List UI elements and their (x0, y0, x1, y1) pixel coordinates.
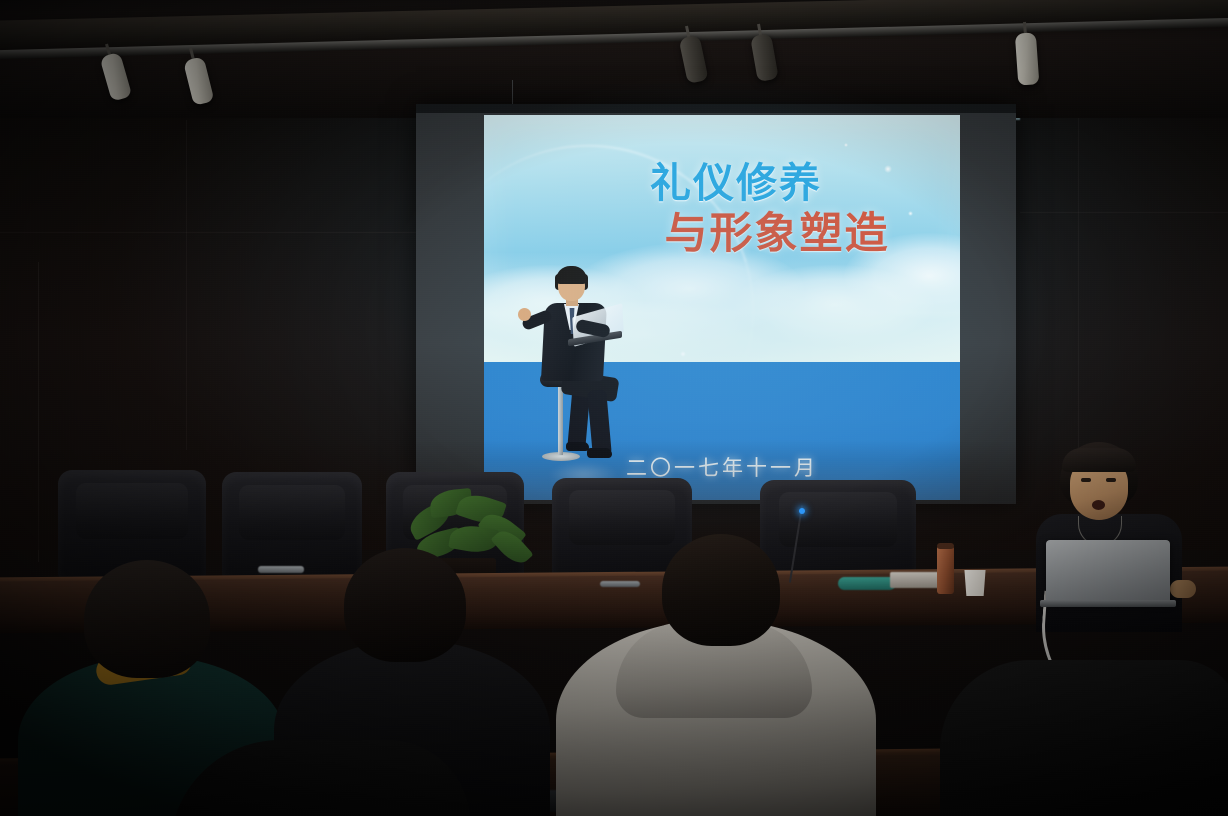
presenter-hand (1170, 580, 1196, 598)
photo-hair (556, 266, 587, 284)
slide-title-line-2: 与形象塑造 (594, 199, 960, 261)
wall-seam (1020, 212, 1228, 213)
spotlight-stem (757, 24, 762, 35)
apple-logo-icon (1098, 562, 1116, 582)
spotlight-housing (679, 35, 709, 84)
audience-member-5 (170, 740, 470, 816)
audience-member-4 (940, 660, 1228, 816)
wall-seam (186, 120, 187, 450)
presenter-eye-right (1106, 478, 1116, 482)
spotlight-housing (750, 33, 779, 82)
ceiling (0, 0, 1228, 118)
spotlight-stem (1023, 22, 1027, 33)
audience-4-torso (940, 660, 1228, 816)
thermos-flask (937, 545, 954, 594)
wall-seam (0, 232, 420, 233)
sparkle-icon (680, 351, 686, 357)
audience-2-head (344, 548, 466, 662)
spotlight-stem (685, 26, 690, 37)
desk-papers (890, 572, 942, 588)
microphone-led-icon (799, 508, 805, 514)
audience-3-head (662, 534, 780, 646)
paper-cup (963, 570, 987, 596)
spotlight-icon (180, 45, 214, 105)
spotlight-housing (183, 56, 215, 106)
conference-room-scene: 礼仪修养 与形象塑造 (0, 0, 1228, 816)
audience-member-3 (556, 534, 876, 816)
screen-top-bar (416, 104, 1016, 113)
spotlight-icon (1014, 21, 1039, 85)
audience-5-torso (170, 740, 470, 816)
presenter-fringe (1062, 448, 1136, 472)
laptop-base (1040, 600, 1176, 607)
presenter-mouth (1092, 500, 1105, 510)
presenter-eye-left (1081, 478, 1091, 482)
spotlight-housing (1015, 32, 1040, 85)
spotlight-housing (99, 52, 132, 102)
photo-hand-left (518, 308, 531, 321)
thermos-cap (937, 543, 954, 549)
sparkle-icon (844, 143, 848, 147)
wall-seam (1078, 118, 1079, 468)
audience-1-head (84, 560, 210, 678)
